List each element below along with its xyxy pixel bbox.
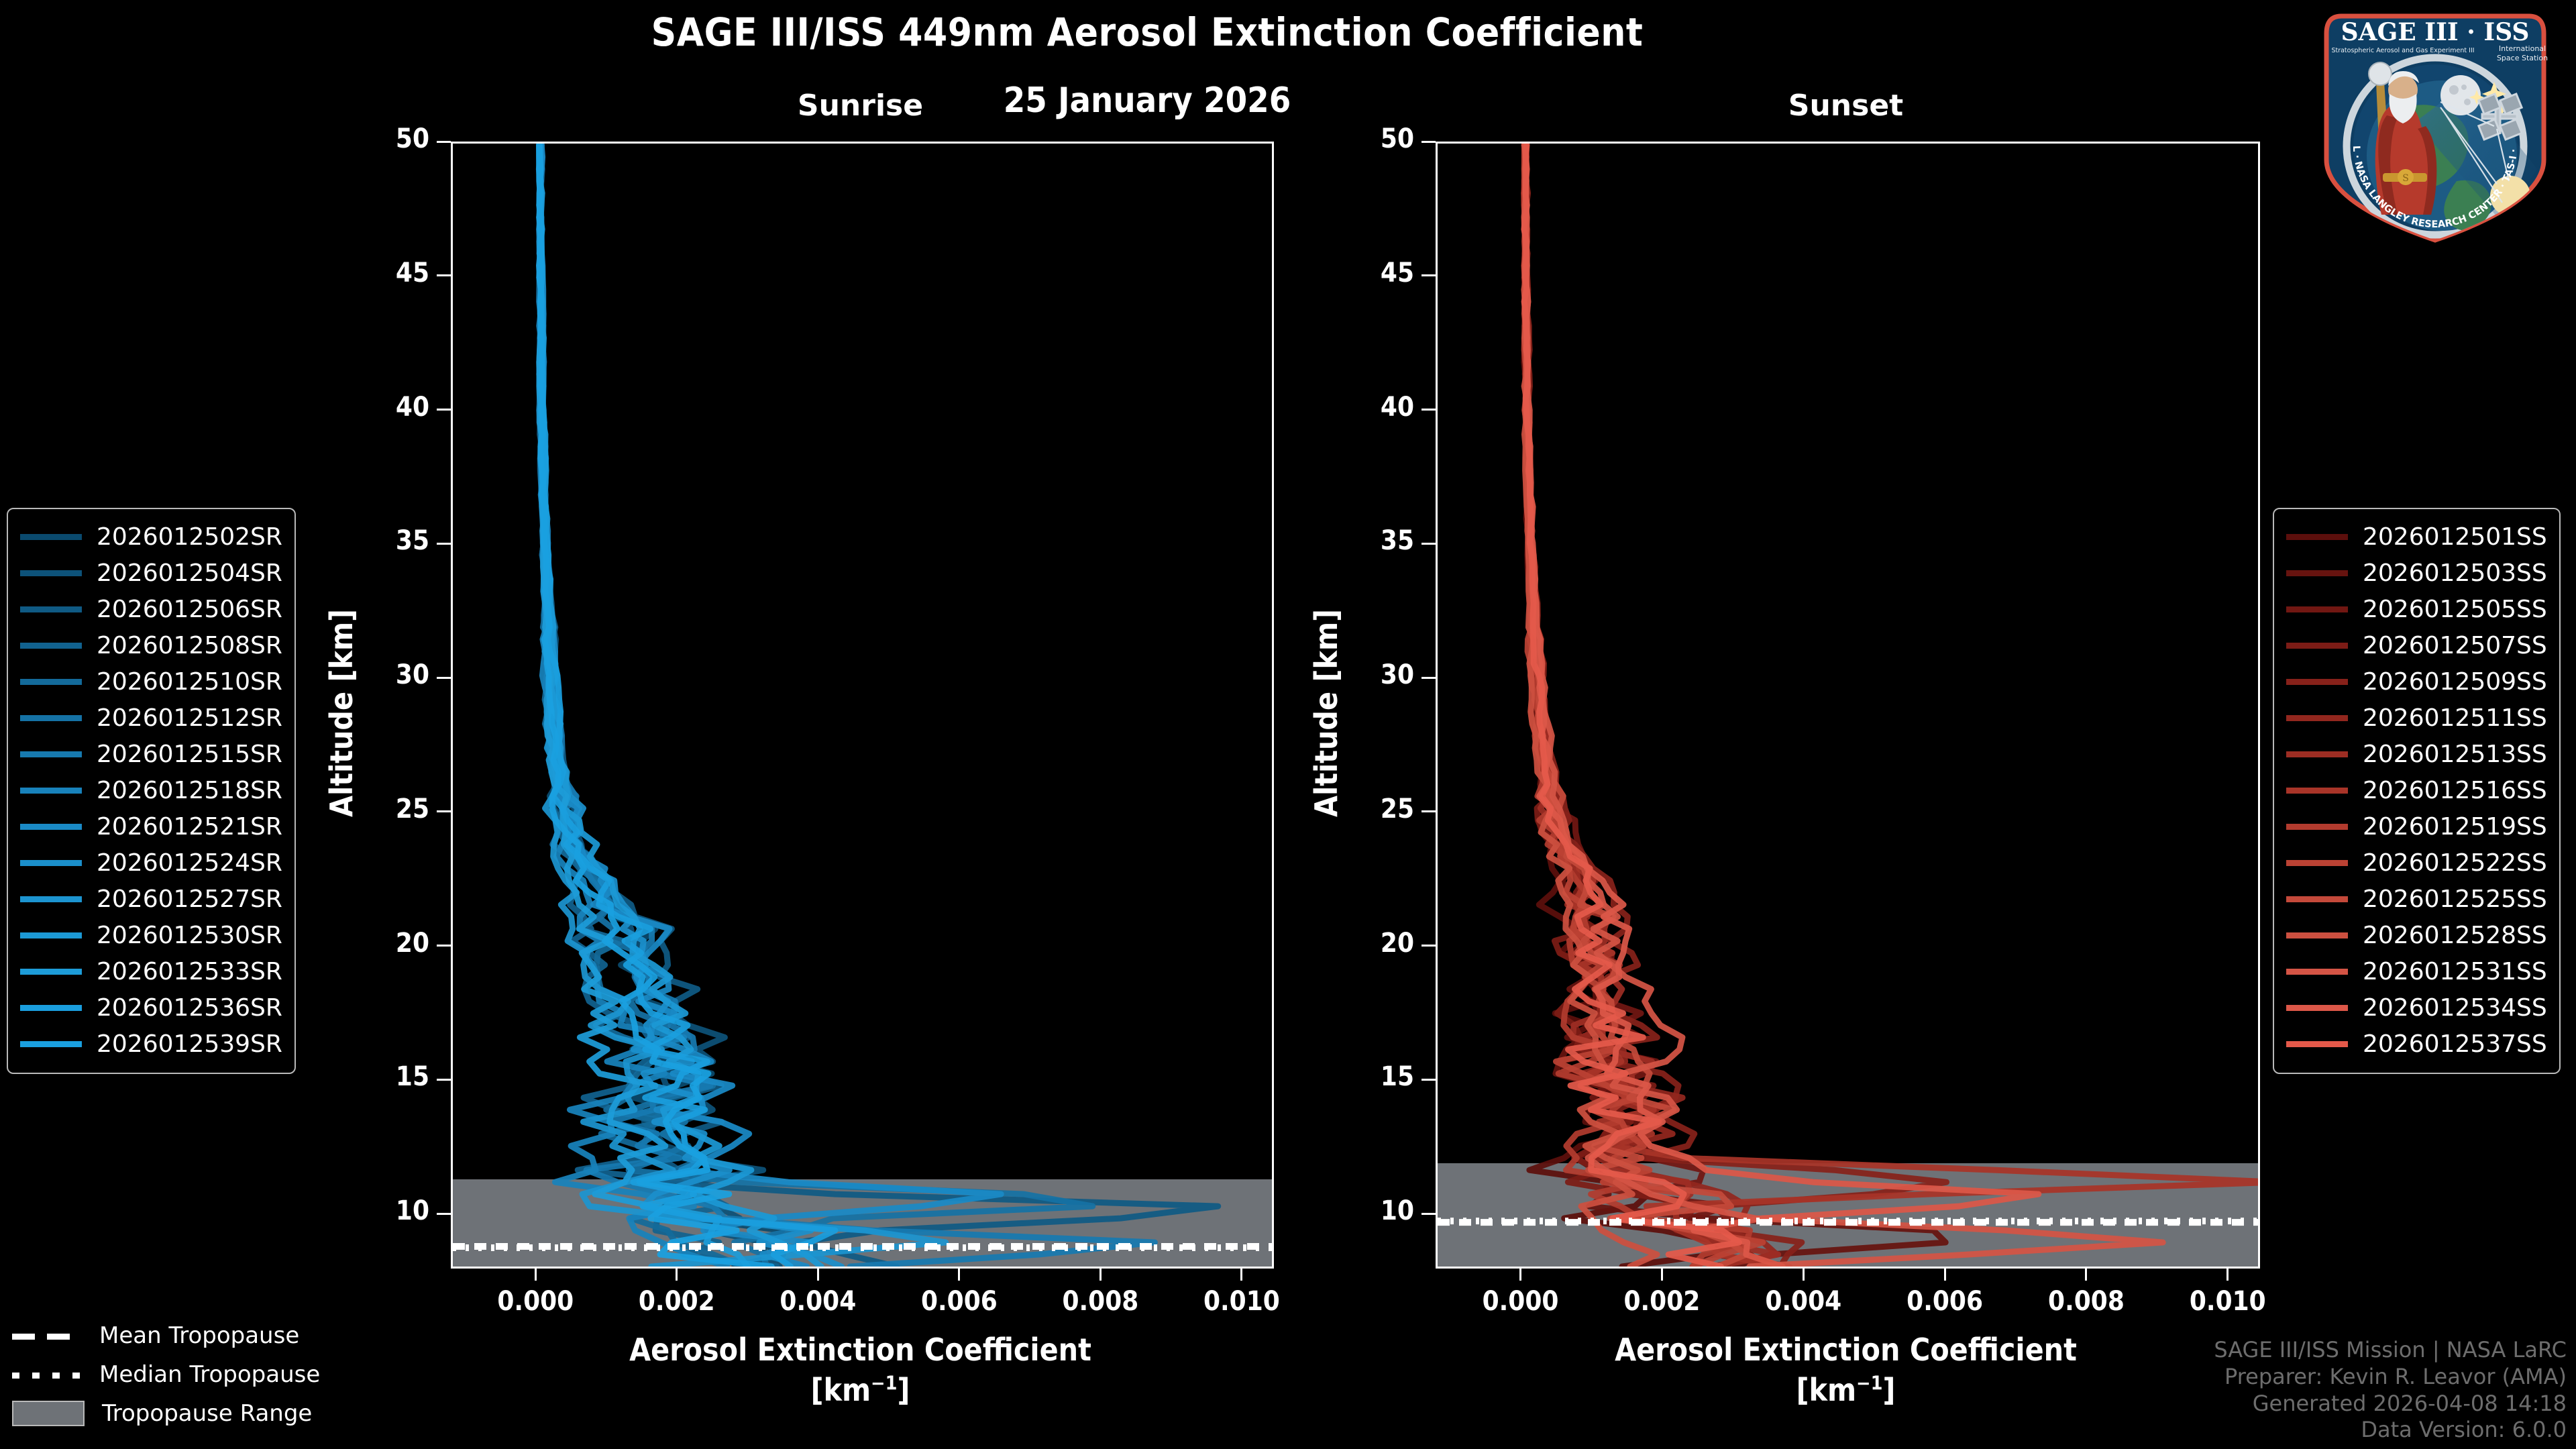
legend-label: 2026012503SS: [2363, 559, 2547, 587]
legend-label: 2026012522SS: [2363, 849, 2547, 877]
sunset-profile-lines: [1438, 144, 2258, 1267]
footer-line-data-version: Data Version: 6.0.0: [2214, 1417, 2567, 1444]
legend-label: 2026012504SR: [97, 559, 282, 587]
x-axis-tick: [676, 1267, 678, 1281]
x-axis-tick: [1240, 1267, 1242, 1281]
legend-label: 2026012510SR: [97, 668, 282, 696]
legend-label: 2026012533SR: [97, 958, 282, 985]
legend-item[interactable]: 2026012505SS: [2286, 591, 2547, 627]
y-axis-tick-label: 20: [350, 928, 429, 959]
legend-color-swatch: [20, 860, 82, 866]
y-axis-tick-label: 20: [1335, 928, 1414, 959]
profile-line: [539, 145, 946, 1267]
sunset-legend[interactable]: 2026012501SS2026012503SS2026012505SS2026…: [2273, 508, 2561, 1074]
legend-color-swatch: [2286, 896, 2348, 902]
x-axis-tick: [1803, 1267, 1805, 1281]
y-axis-tick: [1421, 1213, 1436, 1215]
logo-subtitle-left: Stratospheric Aerosol and Gas Experiment…: [2331, 47, 2474, 54]
x-axis-tick: [535, 1267, 537, 1281]
legend-label: 2026012507SS: [2363, 632, 2547, 659]
x-axis-unit: [km−1]: [451, 1372, 1270, 1408]
legend-item[interactable]: 2026012534SS: [2286, 989, 2547, 1026]
legend-color-swatch: [2286, 788, 2348, 794]
legend-item-tropopause-range: Tropopause Range: [12, 1394, 320, 1433]
legend-item[interactable]: 2026012539SR: [20, 1026, 282, 1062]
y-axis-tick-label: 15: [1335, 1061, 1414, 1092]
tropopause-legend: Mean Tropopause Median Tropopause Tropop…: [12, 1316, 320, 1433]
y-axis-title: Altitude [km]: [323, 609, 360, 817]
svg-text:S: S: [2402, 173, 2409, 184]
sunrise-plot-axes: [451, 142, 1274, 1269]
y-axis-tick-label: 10: [1335, 1195, 1414, 1226]
x-axis-tick-label: 0.004: [744, 1286, 892, 1317]
y-axis-tick: [1421, 409, 1436, 411]
legend-item[interactable]: 2026012512SR: [20, 700, 282, 736]
legend-item[interactable]: 2026012530SR: [20, 917, 282, 953]
legend-item[interactable]: 2026012503SS: [2286, 555, 2547, 591]
legend-label: 2026012525SS: [2363, 885, 2547, 913]
y-axis-tick-label: 30: [350, 659, 429, 690]
x-axis-tick: [2085, 1267, 2087, 1281]
y-axis-tick-label: 35: [1335, 525, 1414, 556]
legend-color-swatch: [20, 932, 82, 938]
y-axis-tick: [1421, 677, 1436, 679]
legend-label: 2026012511SS: [2363, 704, 2547, 732]
legend-item[interactable]: 2026012516SS: [2286, 772, 2547, 808]
legend-color-swatch: [20, 715, 82, 721]
legend-label: 2026012539SR: [97, 1030, 282, 1058]
x-axis-tick-label: 0.008: [1026, 1286, 1174, 1317]
profile-line: [1525, 145, 1947, 1267]
legend-item[interactable]: 2026012506SR: [20, 591, 282, 627]
legend-label: 2026012524SR: [97, 849, 282, 877]
y-axis-tick: [437, 409, 451, 411]
legend-item[interactable]: 2026012524SR: [20, 845, 282, 881]
x-axis-unit: [km−1]: [1436, 1372, 2256, 1408]
y-axis-title: Altitude [km]: [1308, 609, 1344, 817]
legend-color-swatch: [2286, 751, 2348, 757]
legend-item[interactable]: 2026012537SS: [2286, 1026, 2547, 1062]
legend-label: 2026012515SR: [97, 741, 282, 768]
legend-item-median-tropopause: Median Tropopause: [12, 1355, 320, 1394]
legend-color-swatch: [2286, 1005, 2348, 1011]
legend-label: 2026012536SR: [97, 994, 282, 1022]
legend-label: 2026012505SS: [2363, 596, 2547, 623]
legend-label: 2026012509SS: [2363, 668, 2547, 696]
x-axis-title: Aerosol Extinction Coefficient: [1436, 1332, 2256, 1368]
dashed-line-icon: [12, 1328, 82, 1344]
y-axis-tick-label: 30: [1335, 659, 1414, 690]
y-axis-tick-label: 15: [350, 1061, 429, 1092]
legend-item[interactable]: 2026012508SR: [20, 627, 282, 663]
y-axis-tick: [437, 1079, 451, 1081]
dotted-line-icon: [12, 1366, 82, 1383]
legend-color-swatch: [2286, 860, 2348, 866]
legend-item[interactable]: 2026012509SS: [2286, 663, 2547, 700]
sunrise-plot-area: [453, 144, 1272, 1267]
legend-item[interactable]: 2026012511SS: [2286, 700, 2547, 736]
legend-color-swatch: [2286, 643, 2348, 649]
legend-label-tropopause-range: Tropopause Range: [102, 1400, 312, 1427]
x-axis-tick-label: 0.006: [885, 1286, 1033, 1317]
sunrise-profile-lines: [453, 144, 1272, 1267]
x-axis-tick: [817, 1267, 819, 1281]
sunset-plot-axes: [1436, 142, 2260, 1269]
logo-subtitle-right-1: International: [2499, 44, 2546, 53]
legend-color-swatch: [20, 1005, 82, 1011]
legend-color-swatch: [20, 896, 82, 902]
y-axis-tick-label: 25: [1335, 794, 1414, 824]
x-axis-tick: [958, 1267, 960, 1281]
x-axis-tick-label: 0.010: [1168, 1286, 1316, 1317]
sunset-panel-label: Sunset: [1436, 89, 2256, 123]
legend-color-swatch: [2286, 932, 2348, 938]
legend-item[interactable]: 2026012519SS: [2286, 808, 2547, 845]
legend-item[interactable]: 2026012525SS: [2286, 881, 2547, 917]
logo-subtitle-right-2: Space Station: [2497, 54, 2548, 62]
legend-item-mean-tropopause: Mean Tropopause: [12, 1316, 320, 1355]
y-axis-tick-label: 45: [1335, 258, 1414, 288]
profile-line: [1524, 145, 1776, 1267]
legend-item[interactable]: 2026012533SR: [20, 953, 282, 989]
y-axis-tick-label: 50: [350, 123, 429, 154]
y-axis-tick-label: 35: [350, 525, 429, 556]
legend-label-median-tropopause: Median Tropopause: [99, 1361, 320, 1388]
y-axis-tick-label: 40: [1335, 392, 1414, 423]
footer-line-mission: SAGE III/ISS Mission | NASA LaRC: [2214, 1337, 2567, 1364]
profile-line: [1525, 145, 1778, 1267]
legend-color-swatch: [2286, 969, 2348, 975]
x-axis-tick-label: 0.010: [2154, 1286, 2302, 1317]
legend-label: 2026012519SS: [2363, 813, 2547, 841]
legend-label: 2026012537SS: [2363, 1030, 2547, 1058]
legend-color-swatch: [2286, 679, 2348, 685]
legend-color-swatch: [20, 679, 82, 685]
legend-label: 2026012512SR: [97, 704, 282, 732]
legend-item[interactable]: 2026012507SS: [2286, 627, 2547, 663]
legend-label: 2026012502SR: [97, 523, 282, 551]
legend-color-swatch: [20, 643, 82, 649]
legend-item[interactable]: 2026012515SR: [20, 736, 282, 772]
legend-label: 2026012521SR: [97, 813, 282, 841]
y-axis-tick: [437, 945, 451, 947]
legend-label: 2026012534SS: [2363, 994, 2547, 1022]
y-axis-tick-label: 50: [1335, 123, 1414, 154]
legend-color-swatch: [20, 824, 82, 830]
y-axis-tick: [437, 141, 451, 143]
legend-item[interactable]: 2026012504SR: [20, 555, 282, 591]
legend-item[interactable]: 2026012521SR: [20, 808, 282, 845]
legend-color-swatch: [2286, 570, 2348, 576]
legend-color-swatch: [20, 751, 82, 757]
legend-label: 2026012501SS: [2363, 523, 2547, 551]
legend-color-swatch: [20, 606, 82, 612]
footer-line-generated: Generated 2026-04-08 14:18: [2214, 1391, 2567, 1417]
legend-color-swatch: [2286, 534, 2348, 540]
x-axis-tick: [2226, 1267, 2229, 1281]
y-axis-tick: [1421, 810, 1436, 812]
x-axis-tick-label: 0.004: [1729, 1286, 1877, 1317]
legend-color-swatch: [2286, 1041, 2348, 1047]
x-axis-tick: [1661, 1267, 1663, 1281]
y-axis-tick-label: 40: [350, 392, 429, 423]
legend-item[interactable]: 2026012501SS: [2286, 519, 2547, 555]
y-axis-tick-label: 45: [350, 258, 429, 288]
y-axis-tick: [437, 1213, 451, 1215]
y-axis-tick: [1421, 1079, 1436, 1081]
x-axis-title: Aerosol Extinction Coefficient: [451, 1332, 1270, 1368]
legend-color-swatch: [20, 570, 82, 576]
legend-item[interactable]: 2026012522SS: [2286, 845, 2547, 881]
y-axis-tick: [1421, 141, 1436, 143]
x-axis-tick-label: 0.000: [462, 1286, 609, 1317]
legend-label: 2026012528SS: [2363, 922, 2547, 949]
sunrise-legend[interactable]: 2026012502SR2026012504SR2026012506SR2026…: [7, 508, 296, 1074]
profile-line: [1524, 145, 1763, 1267]
profile-line: [1525, 145, 1946, 1267]
legend-label: 2026012531SS: [2363, 958, 2547, 985]
y-axis-tick: [437, 810, 451, 812]
y-axis-tick-label: 25: [350, 794, 429, 824]
legend-label: 2026012527SR: [97, 885, 282, 913]
footer-credits: SAGE III/ISS Mission | NASA LaRC Prepare…: [2214, 1337, 2567, 1444]
x-axis-tick: [1099, 1267, 1102, 1281]
legend-color-swatch: [2286, 715, 2348, 721]
profile-line: [1524, 145, 1767, 1267]
legend-item[interactable]: 2026012536SR: [20, 989, 282, 1026]
legend-label: 2026012513SS: [2363, 741, 2547, 768]
y-axis-tick-label: 10: [350, 1195, 429, 1226]
legend-label-mean-tropopause: Mean Tropopause: [99, 1322, 299, 1349]
legend-label: 2026012506SR: [97, 596, 282, 623]
legend-label: 2026012518SR: [97, 777, 282, 804]
x-axis-tick: [1944, 1267, 1946, 1281]
shaded-band-icon: [12, 1401, 85, 1426]
legend-color-swatch: [2286, 606, 2348, 612]
y-axis-tick: [437, 274, 451, 276]
legend-item[interactable]: 2026012527SR: [20, 881, 282, 917]
sunset-plot-area: [1438, 144, 2258, 1267]
footer-line-preparer: Preparer: Kevin R. Leavor (AMA): [2214, 1364, 2567, 1391]
legend-item[interactable]: 2026012510SR: [20, 663, 282, 700]
legend-label: 2026012516SS: [2363, 777, 2547, 804]
legend-item[interactable]: 2026012531SS: [2286, 953, 2547, 989]
legend-item[interactable]: 2026012513SS: [2286, 736, 2547, 772]
legend-color-swatch: [20, 788, 82, 794]
y-axis-tick: [1421, 274, 1436, 276]
profile-line: [1524, 145, 1746, 1267]
legend-item[interactable]: 2026012528SS: [2286, 917, 2547, 953]
y-axis-tick: [437, 543, 451, 545]
y-axis-tick: [437, 677, 451, 679]
legend-item[interactable]: 2026012502SR: [20, 519, 282, 555]
x-axis-tick: [1519, 1267, 1521, 1281]
x-axis-tick-label: 0.000: [1447, 1286, 1595, 1317]
y-axis-tick: [1421, 543, 1436, 545]
sunrise-panel-label: Sunrise: [451, 89, 1270, 123]
legend-color-swatch: [2286, 824, 2348, 830]
sage3-iss-mission-patch-logo: S SAGE III · ISS Stratospheric Aerosol a…: [2301, 1, 2569, 250]
x-axis-tick-label: 0.008: [2012, 1286, 2160, 1317]
legend-color-swatch: [20, 1041, 82, 1047]
x-axis-tick-label: 0.006: [1871, 1286, 2019, 1317]
y-axis-tick: [1421, 945, 1436, 947]
x-axis-tick-label: 0.002: [603, 1286, 751, 1317]
legend-color-swatch: [20, 969, 82, 975]
legend-color-swatch: [20, 534, 82, 540]
legend-item[interactable]: 2026012518SR: [20, 772, 282, 808]
legend-label: 2026012508SR: [97, 632, 282, 659]
logo-title: SAGE III · ISS: [2341, 18, 2530, 46]
x-axis-tick-label: 0.002: [1588, 1286, 1735, 1317]
legend-label: 2026012530SR: [97, 922, 282, 949]
page-title: SAGE III/ISS 449nm Aerosol Extinction Co…: [0, 9, 2294, 55]
